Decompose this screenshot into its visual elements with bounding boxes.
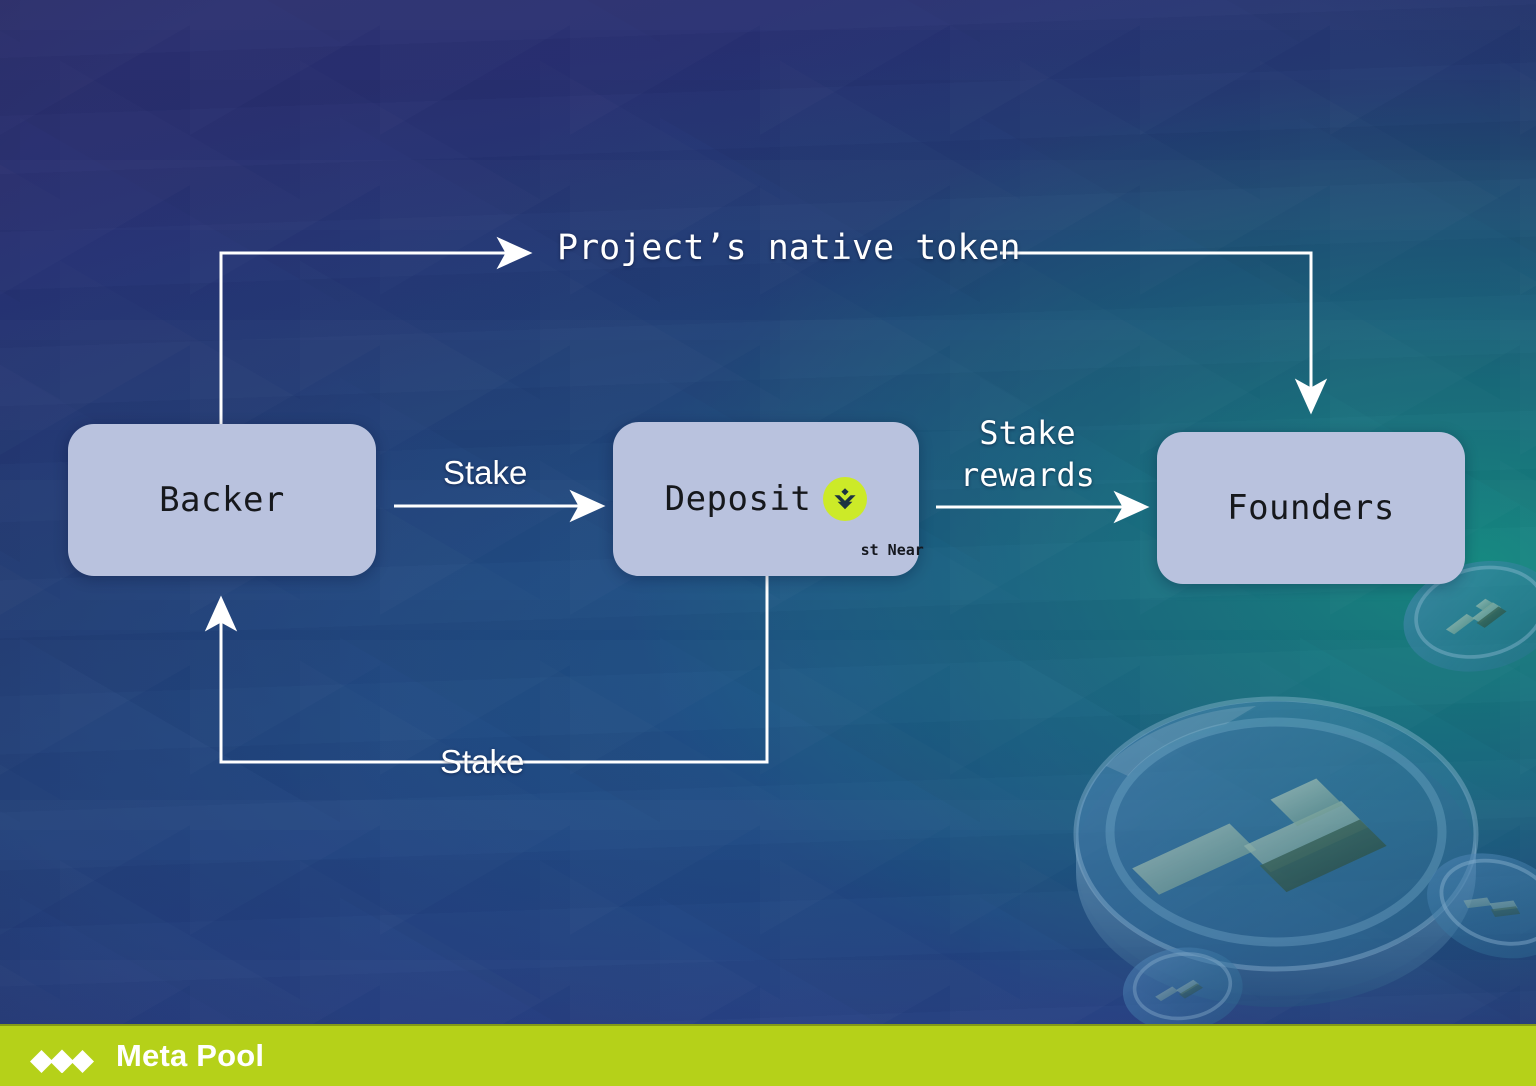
edge-label-stake-rewards: Stake rewards (960, 412, 1095, 496)
meta-pool-mountain-icon (30, 1039, 94, 1073)
node-deposit-token-label: st Near (861, 541, 924, 559)
node-backer-label: Backer (159, 480, 285, 520)
edge-backer-to-native-token (221, 253, 528, 424)
node-founders[interactable]: Founders (1157, 432, 1465, 584)
node-deposit-label: Deposit (665, 479, 812, 519)
edge-label-stake-rewards-line2: rewards (960, 454, 1095, 496)
edge-deposit-to-backer (221, 576, 767, 762)
edge-label-stake-rewards-line1: Stake (960, 412, 1095, 454)
flow-diagram: Backer Deposit st Near Founders Projec (0, 0, 1536, 1086)
node-backer[interactable]: Backer (68, 424, 376, 576)
node-founders-label: Founders (1227, 488, 1395, 528)
node-deposit[interactable]: Deposit st Near (613, 422, 919, 576)
edge-native-token-to-founders (1000, 253, 1311, 410)
footer-brand-name: Meta Pool (116, 1038, 264, 1074)
meta-pool-chevron-icon (823, 477, 867, 521)
slide-canvas: Backer Deposit st Near Founders Projec (0, 0, 1536, 1086)
edge-label-native-token: Project’s native token (557, 228, 1021, 268)
edge-label-stake-backer-deposit: Stake (443, 454, 527, 492)
edge-label-stake-deposit-backer: Stake (440, 743, 524, 781)
node-deposit-content: Deposit st Near (665, 477, 868, 521)
footer-brand-bar: Meta Pool (0, 1024, 1536, 1086)
